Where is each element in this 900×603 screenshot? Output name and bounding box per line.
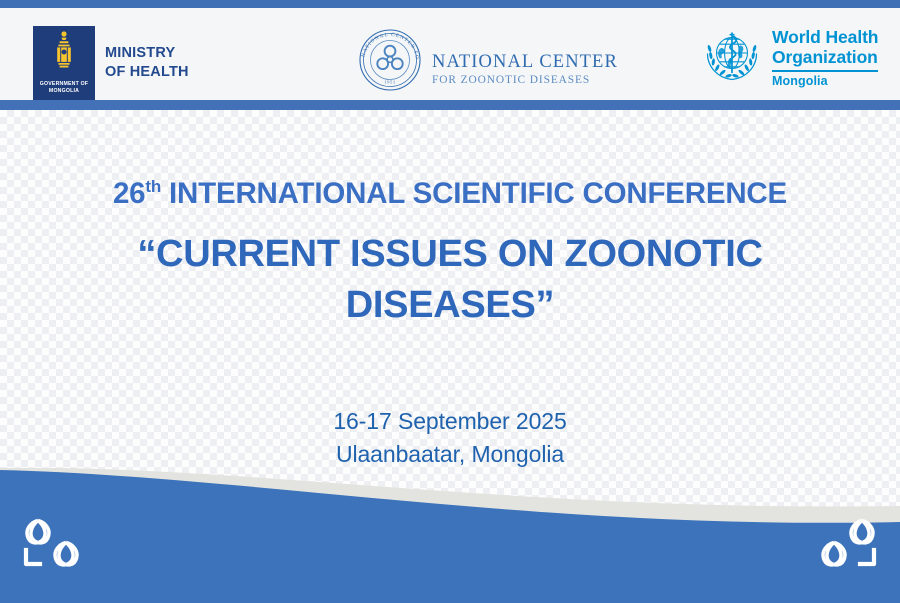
who-name: World Health Organization Mongolia: [772, 24, 878, 88]
who-name-line-2: Organization: [772, 47, 878, 67]
top-accent-bar: [0, 0, 900, 8]
mongolia-soyombo-icon: [49, 30, 79, 79]
who-logo: World Health Organization Mongolia: [700, 24, 878, 93]
who-emblem-icon: [700, 24, 764, 93]
triquetra-knot-ornament-left: [14, 510, 94, 585]
triquetra-knot-ornament-right: [806, 510, 886, 585]
ministry-name-line-1: MINISTRY: [105, 44, 189, 63]
emblem-line-1: GOVERNMENT OF: [33, 81, 95, 88]
emblem-line-2: MONGOLIA: [33, 88, 95, 95]
slide-main-content: 26th INTERNATIONAL SCIENTIFIC CONFERENCE…: [0, 110, 900, 471]
footer-curve-decoration: [0, 468, 900, 603]
conference-number: 26: [113, 177, 145, 210]
logo-row: GOVERNMENT OF MONGOLIA MINISTRY OF HEALT…: [0, 8, 900, 100]
ministry-of-health-name: MINISTRY OF HEALTH: [105, 44, 189, 82]
national-center-zoonotic-diseases-logo: NATIONAL CENTER FOR ZOONOTIC DISEASES 19…: [352, 22, 618, 103]
event-location: Ulaanbaatar, Mongolia: [0, 438, 900, 471]
who-country-label: Mongolia: [772, 74, 878, 88]
event-dates: 16-17 September 2025: [0, 405, 900, 438]
conference-label: INTERNATIONAL SCIENTIFIC CONFERENCE: [161, 177, 787, 210]
ncz-name-line-1: NATIONAL CENTER: [432, 52, 618, 73]
ministry-name-line-2: OF HEALTH: [105, 63, 189, 82]
conference-heading: 26th INTERNATIONAL SCIENTIFIC CONFERENCE: [0, 177, 900, 211]
svg-text:1951: 1951: [384, 80, 396, 85]
who-name-line-1: World Health: [772, 27, 878, 47]
conference-title-slide: GOVERNMENT OF MONGOLIA MINISTRY OF HEALT…: [0, 0, 900, 603]
conference-ordinal: th: [145, 177, 161, 196]
ministry-of-health-logo: GOVERNMENT OF MONGOLIA MINISTRY OF HEALT…: [33, 26, 189, 100]
national-center-name: NATIONAL CENTER FOR ZOONOTIC DISEASES: [432, 38, 618, 87]
who-underline: [772, 70, 878, 72]
ncz-name-line-2: FOR ZOONOTIC DISEASES: [432, 73, 618, 87]
conference-topic-title: “CURRENT ISSUES ON ZOONOTIC DISEASES”: [0, 229, 900, 331]
footer-curve-blue: [0, 470, 900, 603]
event-details: 16-17 September 2025 Ulaanbaatar, Mongol…: [0, 405, 900, 471]
biohazard-seal-icon: NATIONAL CENTER FOR ZOONOTIC DISEASES 19…: [352, 22, 428, 103]
mongolia-government-emblem: GOVERNMENT OF MONGOLIA: [33, 26, 95, 100]
